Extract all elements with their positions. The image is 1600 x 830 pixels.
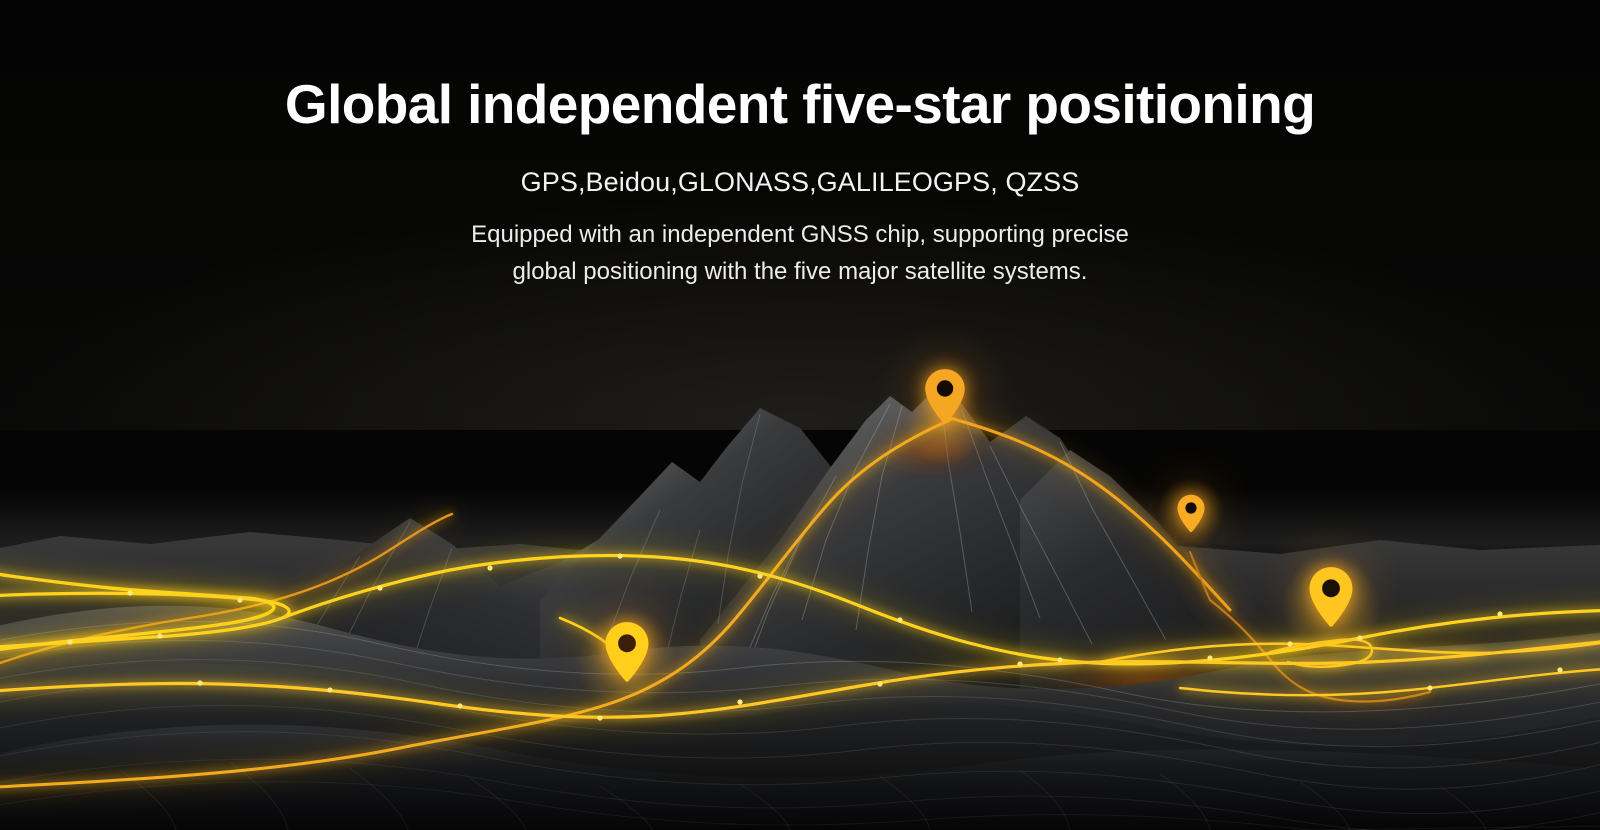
right-upper-pin[interactable] <box>1176 494 1206 533</box>
page-title: Global independent five-star positioning <box>0 72 1600 137</box>
hero-text-block: Global independent five-star positioning… <box>0 0 1600 291</box>
description-text: Equipped with an independent GNSS chip, … <box>0 217 1600 291</box>
ember-patch-mid <box>868 426 992 474</box>
description-line-2: global positioning with the five major s… <box>0 254 1600 291</box>
gnss-positioning-hero: Global independent five-star positioning… <box>0 0 1600 830</box>
mountain-terrain <box>0 300 1600 830</box>
right-lower-pin[interactable] <box>1307 566 1355 628</box>
satellite-systems-line: GPS,Beidou,GLONASS,GALILEOGPS, QZSS <box>0 167 1600 198</box>
description-line-1: Equipped with an independent GNSS chip, … <box>0 217 1600 254</box>
summit-pin[interactable] <box>923 368 967 425</box>
left-valley-pin[interactable] <box>603 621 651 683</box>
